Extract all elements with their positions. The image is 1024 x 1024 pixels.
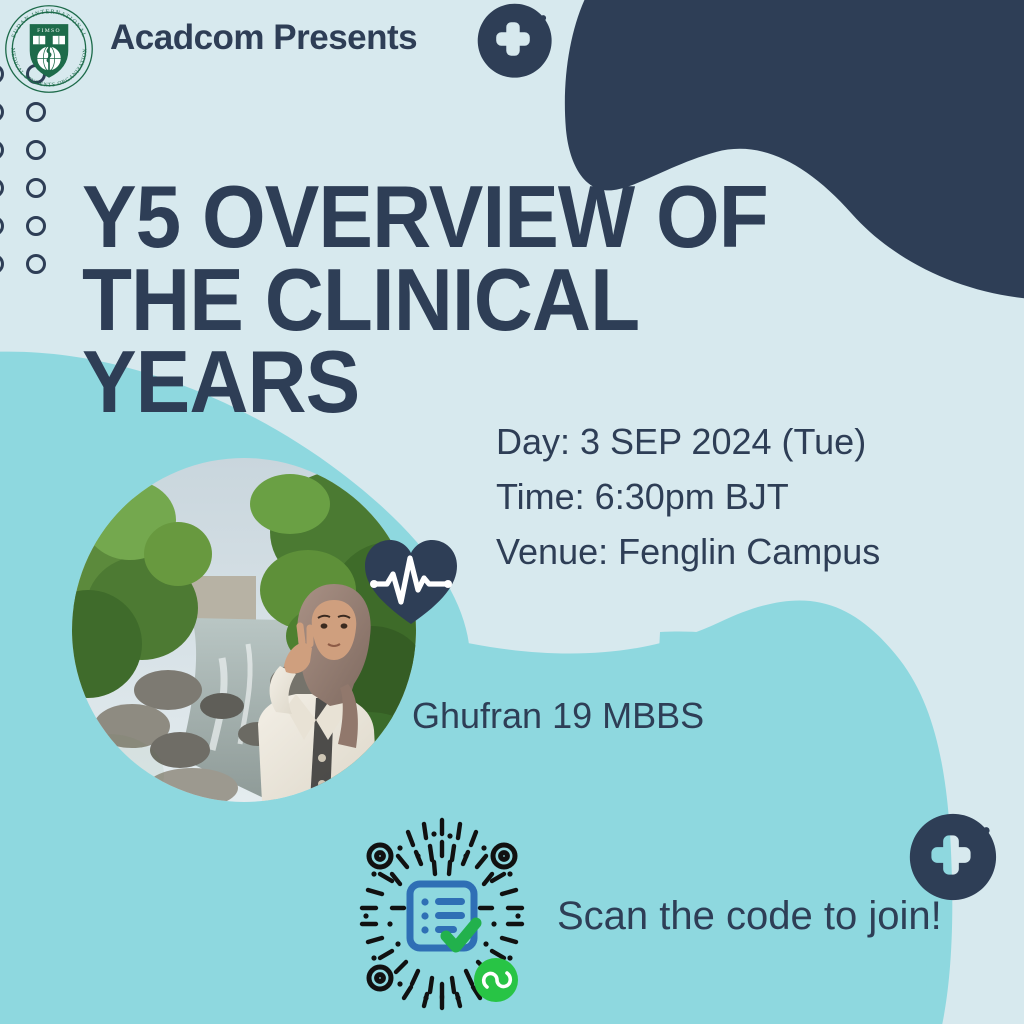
dot — [26, 216, 46, 236]
fimso-seal-logo: FUDAN INTERNATIONAL MEDICAL STUDENTS ORG… — [2, 2, 96, 96]
medical-plus-circle-icon — [471, 0, 555, 81]
checklist-document-check-icon — [410, 884, 476, 948]
dot — [0, 102, 4, 122]
title-line-1: Y5 OVERVIEW OF — [82, 176, 826, 259]
scan-call-to-action: Scan the code to join! — [557, 894, 942, 939]
dot — [0, 254, 4, 274]
presents-label: Acadcom Presents — [110, 18, 417, 58]
event-day: Day: 3 SEP 2024 (Tue) — [496, 414, 880, 469]
wechat-miniprogram-qr-code[interactable] — [338, 812, 546, 1020]
medical-plus-circle-icon — [902, 806, 1000, 904]
dot — [0, 178, 4, 198]
page-title: Y5 OVERVIEW OF THE CLINICAL YEARS — [82, 176, 826, 424]
wechat-miniprogram-badge-icon — [474, 958, 518, 1002]
dot — [0, 140, 4, 160]
event-venue: Venue: Fenglin Campus — [496, 524, 880, 579]
title-line-3: YEARS — [82, 341, 826, 424]
speaker-name: Ghufran 19 MBBS — [412, 695, 704, 737]
seal-center-text: FIMSO — [37, 28, 61, 34]
dot — [26, 178, 46, 198]
poster-canvas: FUDAN INTERNATIONAL MEDICAL STUDENTS ORG… — [0, 0, 1024, 1024]
dot — [26, 140, 46, 160]
heart-pulse-icon — [360, 534, 462, 634]
event-details: Day: 3 SEP 2024 (Tue) Time: 6:30pm BJT V… — [496, 414, 880, 579]
dot — [26, 254, 46, 274]
event-time: Time: 6:30pm BJT — [496, 469, 880, 524]
title-line-2: THE CLINICAL — [82, 259, 826, 342]
dot — [26, 102, 46, 122]
dot — [0, 216, 4, 236]
decorative-dot-grid — [0, 64, 74, 292]
